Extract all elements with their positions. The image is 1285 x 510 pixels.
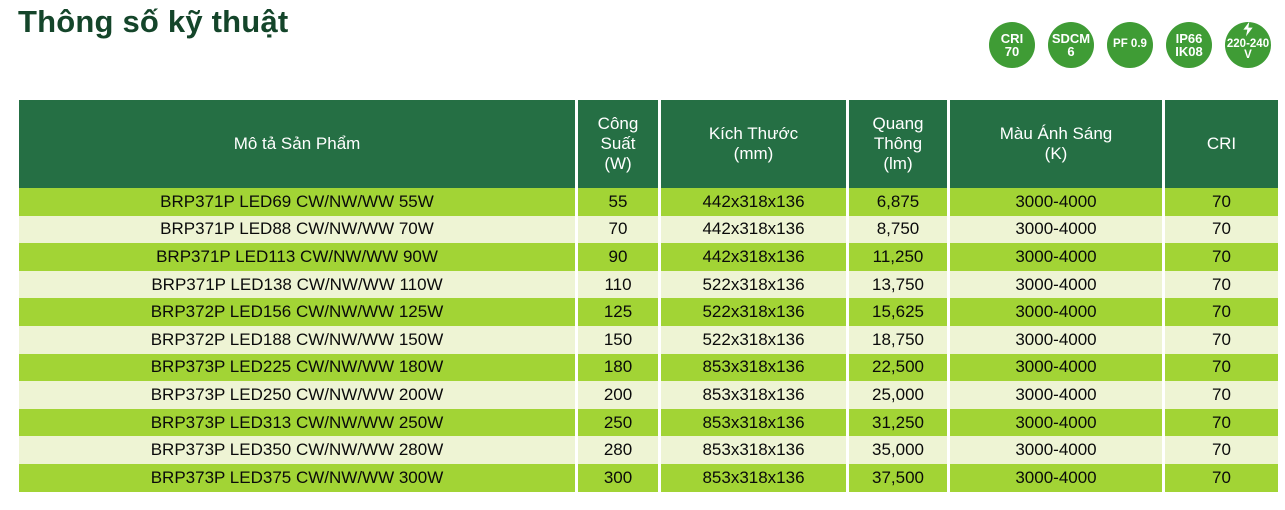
page-title: Thông số kỹ thuật: [18, 4, 288, 40]
cell-cri: 70: [1165, 271, 1278, 299]
column-header-cri: CRI: [1165, 100, 1278, 188]
cell-desc: BRP373P LED375 CW/NW/WW 300W: [19, 464, 575, 492]
cell-dim: 522x318x136: [661, 326, 846, 354]
cell-cri: 70: [1165, 436, 1278, 464]
badge-sdcm: SDCM6: [1048, 22, 1094, 68]
certification-badge-strip: CRI70SDCM6PF 0.9IP66IK08220-240V: [989, 22, 1271, 68]
cell-dim: 522x318x136: [661, 298, 846, 326]
cell-power: 110: [578, 271, 658, 299]
cell-flux: 8,750: [849, 216, 947, 244]
cell-power: 250: [578, 409, 658, 437]
cell-cri: 70: [1165, 216, 1278, 244]
cell-power: 125: [578, 298, 658, 326]
table-row: BRP371P LED113 CW/NW/WW 90W90442x318x136…: [19, 243, 1278, 271]
column-header-dim: Kích Thước(mm): [661, 100, 846, 188]
cell-color: 3000-4000: [950, 271, 1162, 299]
cell-flux: 15,625: [849, 298, 947, 326]
cell-cri: 70: [1165, 409, 1278, 437]
cell-desc: BRP373P LED250 CW/NW/WW 200W: [19, 381, 575, 409]
cell-power: 180: [578, 354, 658, 382]
table-body: BRP371P LED69 CW/NW/WW 55W55442x318x1366…: [19, 188, 1278, 492]
cell-desc: BRP373P LED313 CW/NW/WW 250W: [19, 409, 575, 437]
cell-desc: BRP373P LED225 CW/NW/WW 180W: [19, 354, 575, 382]
cell-cri: 70: [1165, 464, 1278, 492]
cell-color: 3000-4000: [950, 409, 1162, 437]
badge-sdcm-line: 6: [1067, 45, 1074, 58]
column-header-desc: Mô tả Sản Phẩm: [19, 100, 575, 188]
cell-cri: 70: [1165, 188, 1278, 216]
table-header: Mô tả Sản PhẩmCôngSuất(W)Kích Thước(mm)Q…: [19, 100, 1278, 188]
specification-table: Mô tả Sản PhẩmCôngSuất(W)Kích Thước(mm)Q…: [16, 100, 1281, 492]
cell-color: 3000-4000: [950, 298, 1162, 326]
badge-cri: CRI70: [989, 22, 1035, 68]
cell-dim: 442x318x136: [661, 243, 846, 271]
table-row: BRP371P LED69 CW/NW/WW 55W55442x318x1366…: [19, 188, 1278, 216]
cell-color: 3000-4000: [950, 216, 1162, 244]
cell-power: 90: [578, 243, 658, 271]
badge-ingress-protection: IP66IK08: [1166, 22, 1212, 68]
table-row: BRP373P LED225 CW/NW/WW 180W180853x318x1…: [19, 354, 1278, 382]
column-header-flux: QuangThông(lm): [849, 100, 947, 188]
cell-power: 280: [578, 436, 658, 464]
cell-color: 3000-4000: [950, 354, 1162, 382]
cell-cri: 70: [1165, 243, 1278, 271]
badge-ingress-protection-line: IP66: [1176, 32, 1203, 45]
table-row: BRP373P LED375 CW/NW/WW 300W300853x318x1…: [19, 464, 1278, 492]
badge-voltage: 220-240V: [1225, 22, 1271, 68]
table-row: BRP372P LED188 CW/NW/WW 150W150522x318x1…: [19, 326, 1278, 354]
cell-desc: BRP371P LED138 CW/NW/WW 110W: [19, 271, 575, 299]
table-row: BRP371P LED138 CW/NW/WW 110W110522x318x1…: [19, 271, 1278, 299]
cell-flux: 18,750: [849, 326, 947, 354]
spec-sheet-page: Thông số kỹ thuật CRI70SDCM6PF 0.9IP66IK…: [0, 0, 1285, 510]
cell-desc: BRP372P LED188 CW/NW/WW 150W: [19, 326, 575, 354]
cell-color: 3000-4000: [950, 243, 1162, 271]
badge-sdcm-line: SDCM: [1052, 32, 1090, 45]
cell-flux: 6,875: [849, 188, 947, 216]
cell-dim: 442x318x136: [661, 188, 846, 216]
badge-voltage-line: V: [1244, 50, 1252, 62]
cell-cri: 70: [1165, 381, 1278, 409]
badge-power-factor-line: PF 0.9: [1113, 39, 1147, 51]
column-header-color: Màu Ánh Sáng(K): [950, 100, 1162, 188]
cell-cri: 70: [1165, 298, 1278, 326]
cell-power: 150: [578, 326, 658, 354]
cell-desc: BRP371P LED113 CW/NW/WW 90W: [19, 243, 575, 271]
cell-dim: 853x318x136: [661, 381, 846, 409]
table-row: BRP371P LED88 CW/NW/WW 70W70442x318x1368…: [19, 216, 1278, 244]
cell-flux: 25,000: [849, 381, 947, 409]
cell-desc: BRP373P LED350 CW/NW/WW 280W: [19, 436, 575, 464]
cell-desc: BRP371P LED69 CW/NW/WW 55W: [19, 188, 575, 216]
lightning-bolt-icon: [1240, 21, 1256, 37]
cell-color: 3000-4000: [950, 188, 1162, 216]
table-row: BRP373P LED350 CW/NW/WW 280W280853x318x1…: [19, 436, 1278, 464]
cell-flux: 37,500: [849, 464, 947, 492]
cell-desc: BRP372P LED156 CW/NW/WW 125W: [19, 298, 575, 326]
cell-dim: 853x318x136: [661, 464, 846, 492]
cell-power: 300: [578, 464, 658, 492]
cell-power: 200: [578, 381, 658, 409]
cell-dim: 853x318x136: [661, 409, 846, 437]
cell-flux: 31,250: [849, 409, 947, 437]
cell-color: 3000-4000: [950, 436, 1162, 464]
table-row: BRP373P LED313 CW/NW/WW 250W250853x318x1…: [19, 409, 1278, 437]
table-row: BRP373P LED250 CW/NW/WW 200W200853x318x1…: [19, 381, 1278, 409]
badge-cri-line: 70: [1005, 45, 1019, 58]
cell-cri: 70: [1165, 326, 1278, 354]
cell-dim: 853x318x136: [661, 436, 846, 464]
cell-cri: 70: [1165, 354, 1278, 382]
badge-power-factor: PF 0.9: [1107, 22, 1153, 68]
cell-power: 55: [578, 188, 658, 216]
cell-desc: BRP371P LED88 CW/NW/WW 70W: [19, 216, 575, 244]
table-row: BRP372P LED156 CW/NW/WW 125W125522x318x1…: [19, 298, 1278, 326]
cell-flux: 13,750: [849, 271, 947, 299]
cell-dim: 442x318x136: [661, 216, 846, 244]
cell-flux: 11,250: [849, 243, 947, 271]
cell-color: 3000-4000: [950, 381, 1162, 409]
cell-flux: 22,500: [849, 354, 947, 382]
cell-dim: 522x318x136: [661, 271, 846, 299]
cell-power: 70: [578, 216, 658, 244]
column-header-power: CôngSuất(W): [578, 100, 658, 188]
cell-color: 3000-4000: [950, 464, 1162, 492]
cell-color: 3000-4000: [950, 326, 1162, 354]
badge-cri-line: CRI: [1001, 32, 1023, 45]
table-header-row: Mô tả Sản PhẩmCôngSuất(W)Kích Thước(mm)Q…: [19, 100, 1278, 188]
cell-dim: 853x318x136: [661, 354, 846, 382]
cell-flux: 35,000: [849, 436, 947, 464]
badge-ingress-protection-line: IK08: [1175, 45, 1202, 58]
